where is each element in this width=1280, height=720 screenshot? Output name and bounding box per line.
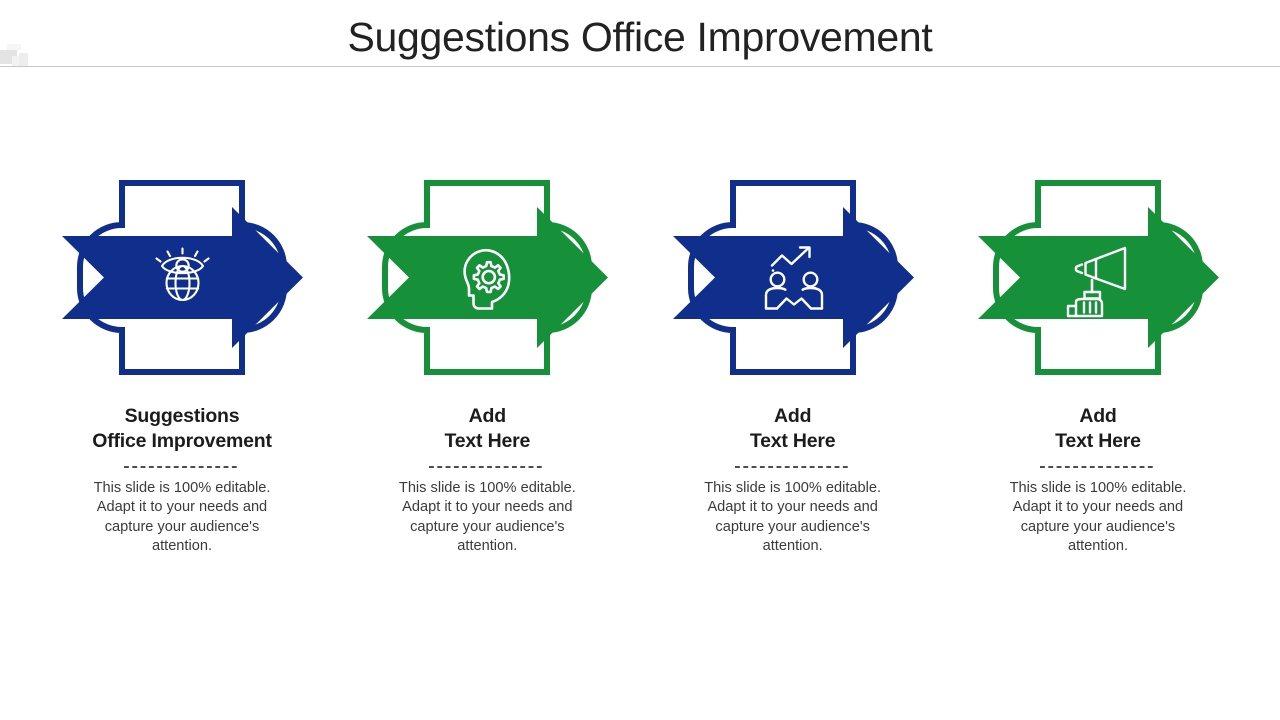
chevron-arrow-band-3 <box>673 207 914 348</box>
column-heading-4: Add Text Here <box>1055 404 1141 454</box>
arrow-badge-graphic-2[interactable] <box>361 180 613 375</box>
column-heading-2: Add Text Here <box>445 404 531 454</box>
dashed-divider-4 <box>1040 466 1156 468</box>
column-heading-1: Suggestions Office Improvement <box>92 404 272 454</box>
column-heading-line1: Add <box>1055 404 1141 429</box>
column-heading-line2: Text Here <box>750 429 836 454</box>
arrow-badge-graphic-3[interactable] <box>667 180 919 375</box>
page-title: Suggestions Office Improvement <box>0 12 1280 62</box>
column-heading-line2: Text Here <box>1055 429 1141 454</box>
column-body-3: This slide is 100% editable. Adapt it to… <box>699 479 887 556</box>
dashed-divider-2 <box>429 466 545 468</box>
chevron-arrow-band-2 <box>367 207 608 348</box>
column-heading-line2: Text Here <box>445 429 531 454</box>
column-heading-line2: Office Improvement <box>92 429 272 454</box>
column-1[interactable]: Suggestions Office Improvement This slid… <box>48 180 316 580</box>
arrow-badge-svg-1 <box>56 180 308 375</box>
column-3[interactable]: Add Text Here This slide is 100% editabl… <box>659 180 927 580</box>
column-heading-line1: Add <box>445 404 531 429</box>
column-body-4: This slide is 100% editable. Adapt it to… <box>1004 479 1192 556</box>
column-body-1: This slide is 100% editable. Adapt it to… <box>88 479 276 556</box>
columns-container: Suggestions Office Improvement This slid… <box>0 180 1280 580</box>
chevron-arrow-band-4 <box>978 207 1219 348</box>
column-body-2: This slide is 100% editable. Adapt it to… <box>393 479 581 556</box>
arrow-badge-svg-2 <box>361 180 613 375</box>
title-divider-rule <box>0 66 1280 67</box>
column-heading-line1: Add <box>750 404 836 429</box>
column-heading-line1: Suggestions <box>92 404 272 429</box>
arrow-badge-graphic-1[interactable] <box>56 180 308 375</box>
column-4[interactable]: Add Text Here This slide is 100% editabl… <box>964 180 1232 580</box>
arrow-badge-graphic-4[interactable] <box>972 180 1224 375</box>
dashed-divider-3 <box>735 466 851 468</box>
column-2[interactable]: Add Text Here This slide is 100% editabl… <box>353 180 621 580</box>
arrow-badge-svg-4 <box>972 180 1224 375</box>
column-heading-3: Add Text Here <box>750 404 836 454</box>
dashed-divider-1 <box>124 466 240 468</box>
arrow-badge-svg-3 <box>667 180 919 375</box>
